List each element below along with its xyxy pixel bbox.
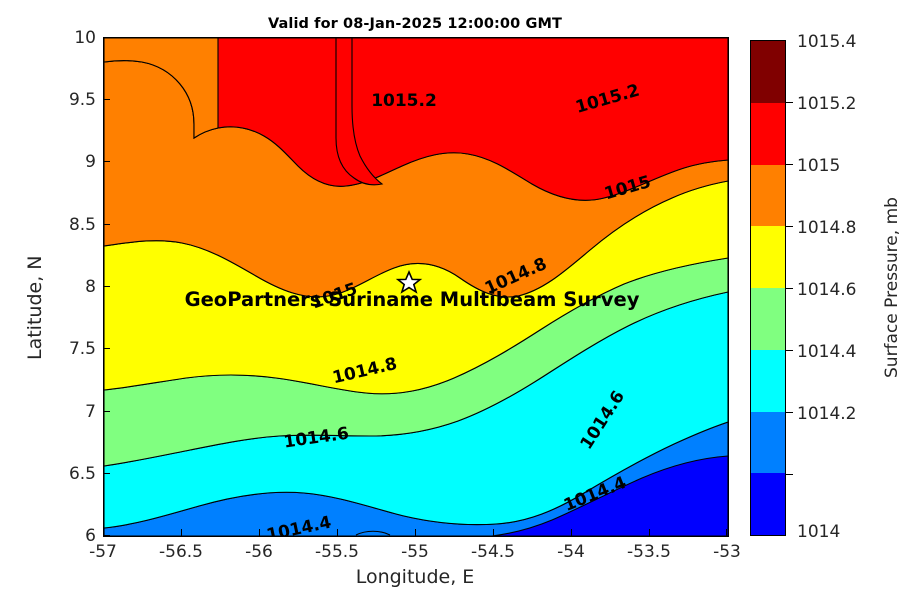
xtick-mark: [649, 529, 650, 536]
ytick-mark: [103, 37, 110, 38]
ytick-mark: [103, 99, 110, 100]
colorbar-label: 1015.4: [797, 32, 856, 52]
colorbar: [750, 40, 786, 536]
ytick-label: 9.5: [48, 90, 96, 110]
colorbar-tick: [786, 288, 793, 289]
xtick-mark: [493, 529, 494, 536]
xtick-label: -55.5: [315, 542, 359, 562]
xtick-label: -54: [557, 542, 585, 562]
xtick-label: -56.5: [159, 542, 203, 562]
xtick-mark: [337, 529, 338, 536]
colorbar-label: 1014: [797, 522, 840, 542]
colorbar-label: 1014.8: [797, 218, 856, 238]
ytick-mark: [103, 473, 110, 474]
ytick-mark: [103, 535, 110, 536]
colorbar-band-below-1014: [751, 473, 785, 535]
xtick-mark: [571, 529, 572, 536]
xtick-mark: [259, 529, 260, 536]
survey-annotation: GeoPartners Suriname Multibeam Survey: [185, 288, 640, 311]
colorbar-label: 1014.2: [797, 404, 856, 424]
colorbar-title: Surface Pressure, mb: [882, 197, 900, 378]
ytick-label: 8.5: [48, 215, 96, 235]
colorbar-tick: [786, 350, 793, 351]
colorbar-label: 1014.6: [797, 280, 856, 300]
ytick-mark: [103, 224, 110, 225]
colorbar-label: 1014.4: [797, 342, 856, 362]
xtick-label: -54.5: [471, 542, 515, 562]
xtick-label: -53.5: [627, 542, 671, 562]
colorbar-tick: [786, 164, 793, 165]
colorbar-band-1014-1014.2: [751, 412, 785, 474]
colorbar-band-1014.8-1015: [751, 165, 785, 227]
xtick-mark: [726, 529, 727, 536]
colorbar-band-1015-1015.2: [751, 103, 785, 165]
colorbar-label: 1015: [797, 156, 840, 176]
colorbar-band-1014.2-1014.4: [751, 350, 785, 412]
ytick-label: 6: [48, 526, 96, 546]
figure-root: Valid for 08-Jan-2025 12:00:00 GMT: [0, 0, 900, 600]
ytick-mark: [103, 411, 110, 412]
colorbar-band-1014.4-1014.6: [751, 288, 785, 350]
ytick-label: 7: [48, 402, 96, 422]
ytick-label: 8: [48, 277, 96, 297]
colorbar-tick: [786, 474, 793, 475]
ytick-label: 9: [48, 152, 96, 172]
contour-label: 1015.2: [371, 91, 437, 111]
colorbar-band-1015.2-1015.4: [751, 41, 785, 103]
colorbar-band-1014.6-1014.8: [751, 226, 785, 288]
colorbar-label: 1015.2: [797, 94, 856, 114]
xtick-label: -55: [401, 542, 429, 562]
contour-svg: 1015.21015.2101510151014.81014.81014.610…: [104, 38, 728, 536]
ytick-mark: [103, 286, 110, 287]
colorbar-tick: [786, 226, 793, 227]
colorbar-tick: [786, 412, 793, 413]
chart-title: Valid for 08-Jan-2025 12:00:00 GMT: [103, 16, 727, 32]
xtick-mark: [181, 529, 182, 536]
y-axis-label: Latitude, N: [24, 256, 46, 361]
colorbar-tick: [786, 102, 793, 103]
x-axis-label: Longitude, E: [103, 566, 727, 588]
ytick-mark: [103, 348, 110, 349]
ytick-label: 10: [48, 28, 96, 48]
xtick-label: -53: [713, 542, 741, 562]
xtick-label: -56: [245, 542, 273, 562]
ytick-label: 7.5: [48, 339, 96, 359]
xtick-mark: [415, 529, 416, 536]
contour-plot-area: 1015.21015.2101510151014.81014.81014.610…: [103, 37, 729, 537]
ytick-label: 6.5: [48, 464, 96, 484]
ytick-mark: [103, 161, 110, 162]
